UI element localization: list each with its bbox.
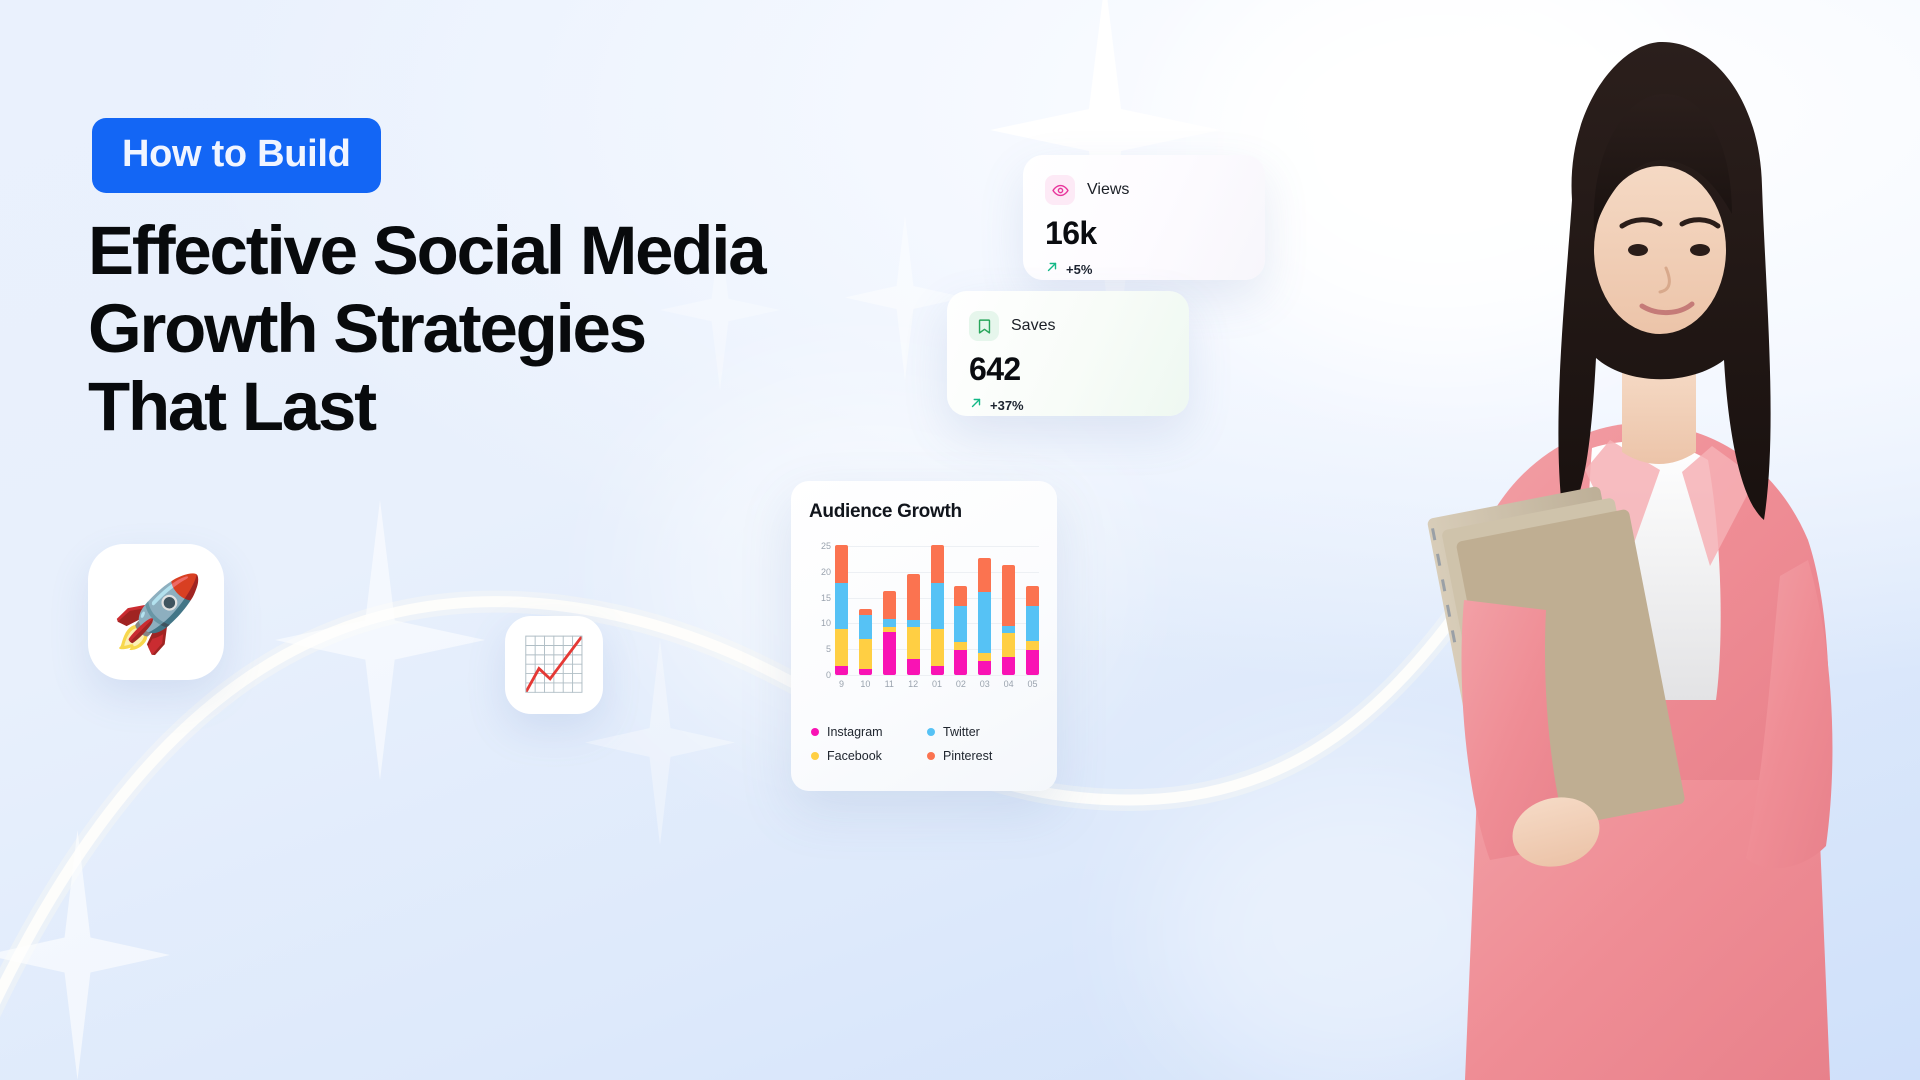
legend-label: Instagram [827, 725, 883, 739]
legend-label: Facebook [827, 749, 882, 763]
chart-increasing-icon: 📈 [522, 639, 587, 691]
trend-up-arrow-icon [1045, 260, 1059, 279]
chart-bar-segment-facebook [1002, 633, 1015, 657]
chart-bar-segment-twitter [931, 583, 944, 629]
stat-card-views: Views 16k +5% [1023, 155, 1265, 280]
chart-y-tick: 5 [826, 644, 831, 654]
chart-bar [931, 545, 944, 675]
chart-bar-segment-pinterest [1002, 565, 1015, 626]
chart-bar-segment-facebook [931, 629, 944, 666]
legend-color-dot [927, 752, 935, 760]
chart-bar-segment-pinterest [859, 609, 872, 616]
chart-bar-segment-instagram [954, 650, 967, 675]
headline-line-1: Effective Social Media [88, 212, 918, 290]
chart-bar-segment-pinterest [883, 591, 896, 619]
chart-legend: InstagramTwitterFacebookPinterest [811, 725, 1037, 763]
chart-bar [835, 545, 848, 675]
rocket-icon: 🚀 [112, 577, 204, 651]
chart-bar-segment-facebook [859, 639, 872, 669]
stat-label: Saves [1011, 317, 1055, 335]
chart-bar-segment-pinterest [1026, 586, 1039, 607]
stat-header: Views [1045, 175, 1243, 205]
chart-y-tick: 25 [821, 541, 831, 551]
chart-bar [954, 586, 967, 675]
chart-bar-segment-facebook [835, 629, 848, 666]
chart-bar-segment-twitter [978, 592, 991, 653]
chart-x-axis: 91011120102030405 [835, 679, 1039, 689]
chart-bar-segment-instagram [907, 659, 920, 675]
chart-bar-segment-pinterest [835, 545, 848, 583]
bookmark-icon [969, 311, 999, 341]
chart-y-axis: 0510152025 [809, 541, 831, 675]
chart-bar-segment-twitter [883, 619, 896, 627]
sparkle-icon [585, 640, 735, 845]
chart-bar-segment-twitter [1026, 606, 1039, 641]
stat-value: 16k [1045, 215, 1243, 252]
stat-delta-value: +5% [1066, 262, 1092, 277]
chart-bar [1026, 586, 1039, 675]
chart-y-tick: 20 [821, 567, 831, 577]
chart-x-tick: 05 [1026, 679, 1039, 689]
legend-color-dot [811, 752, 819, 760]
chart-bar-segment-instagram [931, 666, 944, 675]
chart-bar-segment-instagram [859, 669, 872, 675]
headline-line-2: Growth Strategies [88, 290, 918, 368]
stat-delta-value: +37% [990, 398, 1024, 413]
category-badge: How to Build [92, 118, 381, 193]
legend-color-dot [927, 728, 935, 736]
trend-up-arrow-icon [969, 396, 983, 415]
chart-y-tick: 15 [821, 593, 831, 603]
sparkle-icon [275, 500, 485, 780]
chart-bars [835, 541, 1039, 675]
eye-icon [1045, 175, 1075, 205]
chart-tile: 📈 [505, 616, 603, 714]
legend-item-twitter: Twitter [927, 725, 1037, 739]
stat-delta: +5% [1045, 260, 1243, 279]
chart-bar-segment-instagram [835, 666, 848, 675]
legend-color-dot [811, 728, 819, 736]
legend-label: Pinterest [943, 749, 992, 763]
rocket-tile: 🚀 [88, 544, 224, 680]
chart-x-tick: 02 [954, 679, 967, 689]
avatar [1360, 0, 1920, 1080]
stat-value: 642 [969, 351, 1167, 388]
chart-x-tick: 12 [907, 679, 920, 689]
legend-item-instagram: Instagram [811, 725, 921, 739]
sparkle-icon [0, 830, 170, 1080]
legend-item-facebook: Facebook [811, 749, 921, 763]
chart-bar [883, 591, 896, 675]
legend-label: Twitter [943, 725, 980, 739]
chart-y-tick: 10 [821, 618, 831, 628]
chart-bar-segment-instagram [978, 661, 991, 675]
chart-gridline [835, 675, 1039, 676]
chart-x-tick: 10 [859, 679, 872, 689]
page-title: Effective Social Media Growth Strategies… [88, 212, 918, 446]
chart-title: Audience Growth [809, 501, 1039, 523]
chart-bar-segment-instagram [1026, 650, 1039, 675]
chart-bar-segment-pinterest [907, 574, 920, 620]
stat-delta: +37% [969, 396, 1167, 415]
legend-item-pinterest: Pinterest [927, 749, 1037, 763]
chart-bar-segment-facebook [1026, 641, 1039, 650]
chart-bar-segment-pinterest [954, 586, 967, 607]
chart-bar-segment-twitter [954, 606, 967, 641]
chart-bar-segment-instagram [1002, 657, 1015, 675]
chart-bar-segment-twitter [1002, 626, 1015, 633]
chart-bar [1002, 565, 1015, 675]
chart-bar-segment-facebook [954, 642, 967, 651]
stat-card-saves: Saves 642 +37% [947, 291, 1189, 416]
audience-growth-card: Audience Growth 0510152025 9101112010203… [791, 481, 1057, 791]
chart-x-tick: 9 [835, 679, 848, 689]
chart-x-tick: 03 [978, 679, 991, 689]
chart-y-tick: 0 [826, 670, 831, 680]
headline-line-3: That Last [88, 368, 918, 446]
chart-bar [907, 574, 920, 675]
stat-header: Saves [969, 311, 1167, 341]
chart-x-tick: 11 [883, 679, 896, 689]
chart-bar-segment-instagram [883, 632, 896, 675]
chart-bar-segment-facebook [907, 627, 920, 659]
chart-plot-area: 0510152025 91011120102030405 [809, 541, 1039, 691]
chart-x-tick: 04 [1002, 679, 1015, 689]
stat-label: Views [1087, 181, 1129, 199]
chart-bar-segment-twitter [835, 583, 848, 629]
chart-bar-segment-twitter [859, 615, 872, 639]
chart-x-tick: 01 [931, 679, 944, 689]
chart-bar [859, 609, 872, 675]
chart-bar [978, 558, 991, 675]
chart-bar-segment-facebook [978, 653, 991, 661]
chart-bar-segment-pinterest [978, 558, 991, 592]
chart-bar-segment-pinterest [931, 545, 944, 583]
